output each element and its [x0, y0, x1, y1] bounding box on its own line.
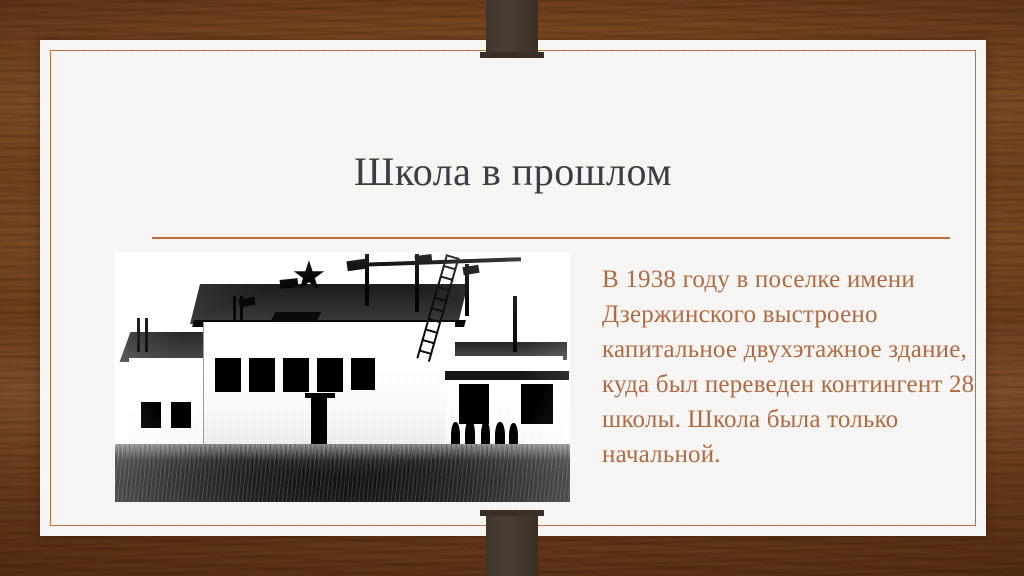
top-ribbon-tab-foot	[480, 52, 544, 58]
bottom-ribbon-tab	[486, 510, 538, 576]
slide-card: Школа в прошлом	[40, 40, 986, 536]
presentation-slide: Школа в прошлом	[0, 0, 1024, 576]
historic-school-photo	[115, 252, 570, 502]
slide-body-text: В 1938 году в поселке имени Дзержинского…	[602, 262, 992, 472]
bottom-ribbon-tab-foot	[480, 510, 544, 516]
photo-edge-fade	[115, 252, 570, 502]
title-divider-rule	[152, 237, 950, 239]
top-ribbon-tab	[486, 0, 538, 58]
slide-title: Школа в прошлом	[90, 148, 936, 195]
